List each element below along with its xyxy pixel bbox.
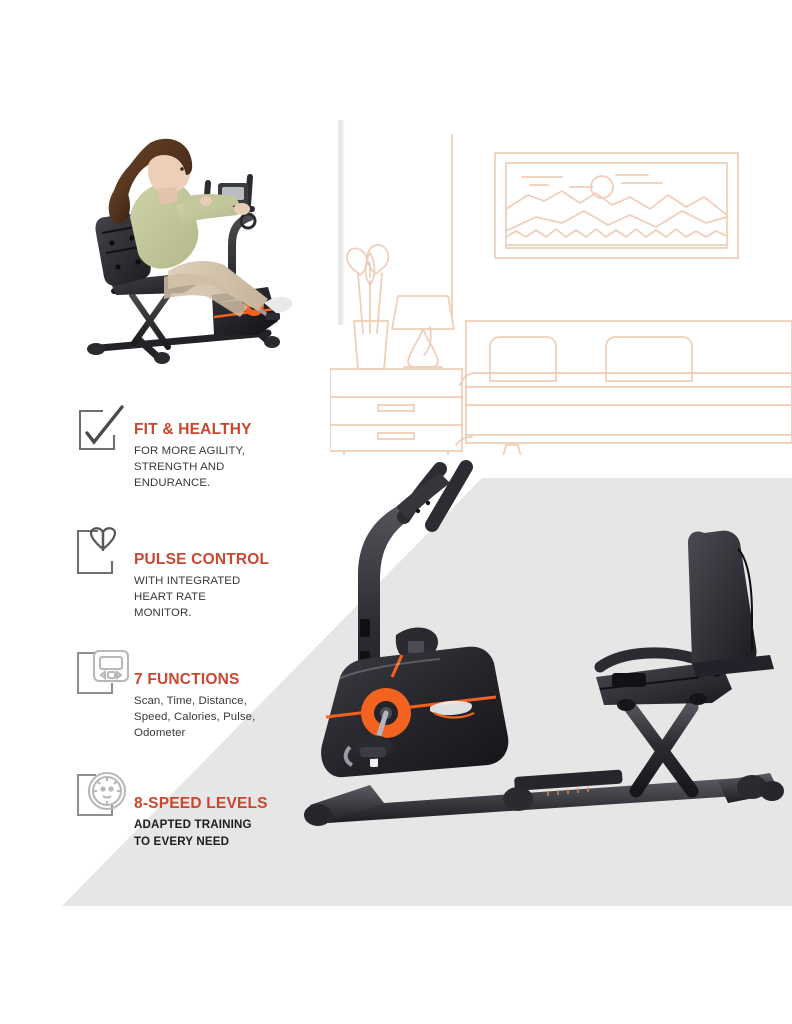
feature-list: FIT & HEALTHY FOR MORE AGILITY, STRENGTH… [74,405,349,883]
feature-item-7-functions: 7 FUNCTIONS Scan, Time, Distance, Speed,… [74,647,349,747]
console-display-icon [74,647,132,705]
feature-description: FOR MORE AGILITY, STRENGTH AND ENDURANCE… [134,443,349,492]
feature-description: ADAPTED TRAINING TO EVERY NEED [134,817,349,850]
stabilizer-cap [87,343,105,355]
product-infographic-page: FIT & HEALTHY FOR MORE AGILITY, STRENGTH… [0,0,792,1024]
feature-line: FOR MORE AGILITY, [134,443,349,459]
tension-dial-icon [74,769,132,827]
feature-line: ADAPTED TRAINING [134,817,349,833]
feature-item-8-speed-levels: 8-SPEED LEVELS ADAPTED TRAINING TO EVERY… [74,769,349,869]
feature-line: Odometer [134,725,349,741]
feature-item-pulse-control: PULSE CONTROL WITH INTEGRATED HEART RATE… [74,527,349,627]
backrest-pad [688,531,774,677]
table-lamp-icon [392,296,454,367]
flywheel-shroud [321,647,508,778]
feature-line: ENDURANCE. [134,475,349,491]
feature-line: TO EVERY NEED [134,834,349,850]
feature-line: STRENGTH AND [134,459,349,475]
product-photo-recumbent-bike [300,455,792,925]
feature-title: PULSE CONTROL [134,551,349,568]
hero-photo-woman-on-bike [72,125,362,375]
nightstand-icon [330,369,462,455]
rail-roller [503,787,533,811]
feature-line: Scan, Time, Distance, [134,693,349,709]
feature-line: MONITOR. [134,605,349,621]
feature-description: Scan, Time, Distance, Speed, Calories, P… [134,693,349,742]
rear-stabilizer [718,773,784,803]
stabilizer-cap [264,336,280,348]
feature-title: 7 FUNCTIONS [134,671,349,688]
feature-line: WITH INTEGRATED [134,573,349,589]
bedroom-line-art-illustration [330,105,792,455]
checkmark-icon [74,405,132,463]
seat-pedestal [630,707,692,791]
feature-description: WITH INTEGRATED HEART RATE MONITOR. [134,573,349,622]
feature-title: 8-SPEED LEVELS [134,795,349,812]
hand [234,203,250,215]
feature-title: FIT & HEALTHY [134,421,349,438]
hand-far [200,196,212,206]
feature-line: HEART RATE [134,589,349,605]
stabilizer-cap [154,352,170,364]
framed-picture-icon [495,153,738,258]
bed-icon [456,321,792,455]
feature-line: Speed, Calories, Pulse, [134,709,349,725]
feature-item-fit-healthy: FIT & HEALTHY FOR MORE AGILITY, STRENGTH… [74,405,349,505]
heart-pulse-icon [74,527,132,585]
